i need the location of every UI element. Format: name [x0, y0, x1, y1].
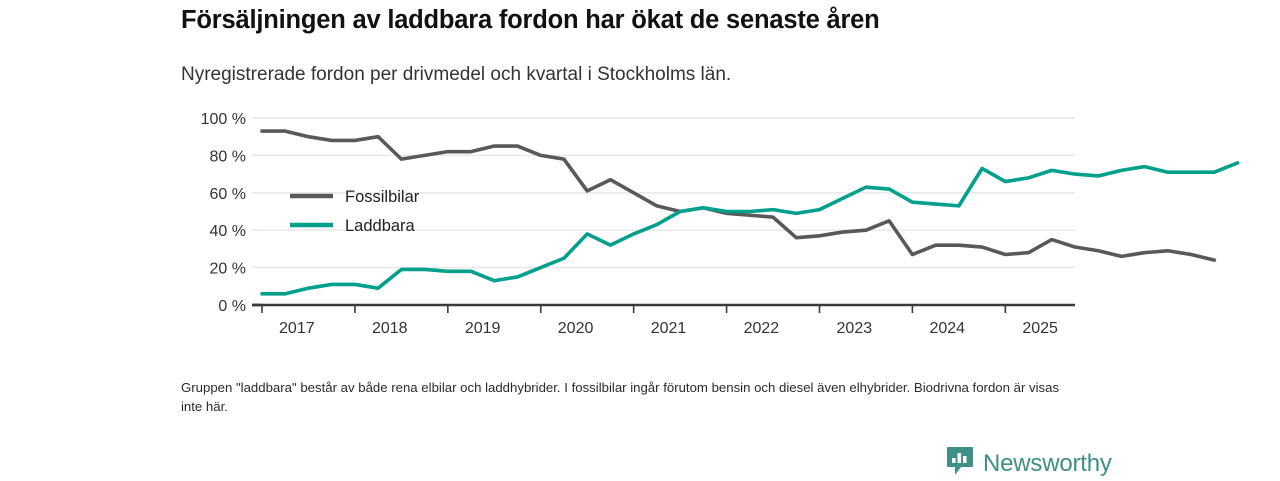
x-axis-tick-label: 2021: [651, 320, 687, 337]
y-axis-tick-label: 80 %: [210, 148, 246, 165]
legend-label: Laddbara: [345, 217, 416, 235]
chart-page: Försäljningen av laddbara fordon har öka…: [0, 0, 1280, 480]
x-axis: [252, 305, 1075, 313]
gridlines: [252, 118, 1075, 305]
x-axis-tick-label: 2024: [929, 320, 965, 337]
bar-chart-pin-icon: [946, 446, 974, 481]
x-axis-tick-label: 2022: [744, 320, 780, 337]
y-axis-tick-label: 100 %: [201, 111, 246, 128]
x-axis-tick-label: 2019: [465, 320, 501, 337]
y-axis-tick-label: 0 %: [218, 298, 246, 315]
y-axis-tick-labels: 0 %20 %40 %60 %80 %100 %: [201, 111, 246, 315]
y-axis-tick-label: 20 %: [210, 261, 246, 278]
x-axis-tick-label: 2017: [279, 320, 315, 337]
y-axis-tick-label: 60 %: [210, 186, 246, 203]
x-axis-tick-label: 2020: [558, 320, 594, 337]
x-axis-tick-labels: 201720182019202020212022202320242025: [279, 320, 1058, 337]
legend-label: Fossilbilar: [345, 188, 420, 206]
x-axis-tick-label: 2023: [837, 320, 873, 337]
x-axis-tick-label: 2018: [372, 320, 408, 337]
newsworthy-logo[interactable]: Newsworthy: [946, 446, 1112, 481]
x-axis-tick-label: 2025: [1022, 320, 1058, 337]
chart-legend: FossilbilarLaddbara: [290, 188, 420, 235]
brand-name: Newsworthy: [983, 450, 1112, 478]
y-axis-tick-label: 40 %: [210, 223, 246, 240]
chart-footnote: Gruppen "laddbara" består av både rena e…: [181, 379, 1061, 416]
